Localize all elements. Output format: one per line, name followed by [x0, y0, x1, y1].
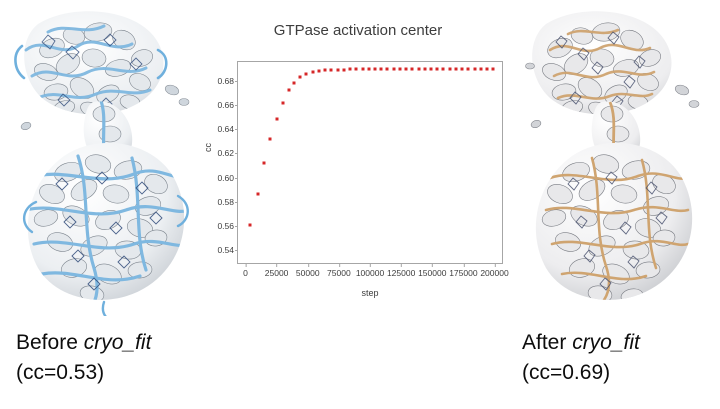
data-point	[367, 68, 370, 71]
caption-before-cc: (cc=0.53)	[16, 358, 151, 388]
data-point	[299, 76, 302, 79]
after-cryo-fit-structure	[516, 6, 716, 316]
x-axis-tick: 25000	[265, 268, 289, 278]
chart-x-axis-label: step	[237, 288, 503, 298]
data-point	[479, 67, 482, 70]
y-axis-tick: 0.58	[217, 197, 234, 207]
y-axis-tick: 0.64	[217, 124, 234, 134]
caption-before-emphasis: cryo_fit	[84, 331, 152, 354]
y-axis-tick: 0.66	[217, 100, 234, 110]
caption-before: Before cryo_fit (cc=0.53)	[16, 328, 151, 388]
before-lower-lobe	[8, 126, 208, 316]
data-point	[249, 224, 252, 227]
data-point	[392, 68, 395, 71]
data-point	[380, 68, 383, 71]
x-axis-tick: 200000	[480, 268, 508, 278]
data-point	[311, 71, 314, 74]
data-point	[492, 67, 495, 70]
data-point	[349, 68, 352, 71]
before-cryo-fit-structure	[8, 6, 208, 316]
data-point	[486, 67, 489, 70]
caption-after-prefix: After	[522, 331, 572, 354]
y-axis-tick: 0.56	[217, 221, 234, 231]
after-lower-lobe	[516, 126, 716, 316]
data-point	[430, 68, 433, 71]
data-point	[373, 68, 376, 71]
data-point	[417, 68, 420, 71]
data-point	[436, 67, 439, 70]
data-point	[330, 68, 333, 71]
data-point	[454, 67, 457, 70]
y-axis-tick: 0.54	[217, 245, 234, 255]
data-point	[361, 68, 364, 71]
data-point	[293, 82, 296, 85]
data-point	[324, 69, 327, 72]
x-axis-tick: 50000	[296, 268, 320, 278]
caption-before-prefix: Before	[16, 331, 84, 354]
data-point	[398, 68, 401, 71]
data-point	[411, 68, 414, 71]
y-axis-tick: 0.62	[217, 148, 234, 158]
data-point	[467, 67, 470, 70]
x-axis-tick: 100000	[356, 268, 384, 278]
cc-vs-step-chart: GTPase activation center cc 0.540.560.58…	[205, 12, 511, 302]
y-axis-tick: 0.68	[217, 76, 234, 86]
x-axis-tick: 150000	[418, 268, 446, 278]
caption-after-emphasis: cryo_fit	[572, 331, 640, 354]
caption-after-cc: (cc=0.69)	[522, 358, 640, 388]
data-point	[336, 68, 339, 71]
data-point	[386, 68, 389, 71]
data-point	[442, 67, 445, 70]
before-density-map	[8, 6, 208, 316]
data-point	[305, 72, 308, 75]
data-point	[256, 193, 259, 196]
chart-title: GTPase activation center	[205, 22, 511, 39]
data-point	[263, 162, 266, 165]
data-point	[473, 67, 476, 70]
scatter-series	[238, 62, 502, 263]
x-axis-tick: 125000	[387, 268, 415, 278]
data-point	[317, 69, 320, 72]
data-point	[405, 68, 408, 71]
data-point	[275, 118, 278, 121]
after-density-map	[516, 6, 716, 316]
plot-area: 0.540.560.580.600.620.640.660.6802500050…	[237, 61, 503, 264]
caption-after: After cryo_fit (cc=0.69)	[522, 328, 640, 388]
y-axis-tick: 0.60	[217, 173, 234, 183]
x-axis-tick: 0	[243, 268, 248, 278]
data-point	[423, 68, 426, 71]
data-point	[281, 101, 284, 104]
data-point	[342, 68, 345, 71]
x-axis-tick: 75000	[327, 268, 351, 278]
data-point	[461, 67, 464, 70]
data-point	[448, 67, 451, 70]
x-axis-tick: 175000	[449, 268, 477, 278]
chart-y-axis-label: cc	[203, 143, 213, 152]
data-point	[269, 138, 272, 141]
data-point	[355, 68, 358, 71]
data-point	[288, 89, 291, 92]
